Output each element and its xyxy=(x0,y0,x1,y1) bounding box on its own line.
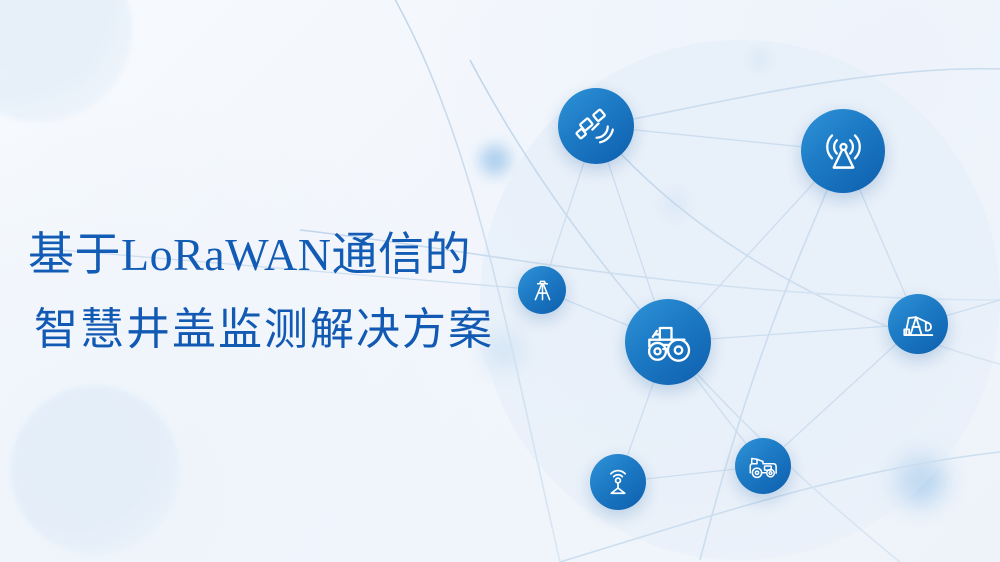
sensor-beacon-icon xyxy=(600,464,636,500)
radio-tower-icon xyxy=(816,124,871,179)
harvester-icon xyxy=(745,448,781,484)
node-tractor[interactable] xyxy=(625,299,711,385)
node-sensor[interactable] xyxy=(590,454,646,510)
page-title-line-1: 基于LoRaWAN通信的 xyxy=(28,228,588,282)
node-harvester[interactable] xyxy=(735,438,791,494)
node-pumpjack[interactable] xyxy=(888,294,948,354)
title-block: 基于LoRaWAN通信的 智慧井盖监测解决方案 xyxy=(28,228,588,357)
node-antenna[interactable] xyxy=(801,109,885,193)
title-slide: 基于LoRaWAN通信的 智慧井盖监测解决方案 xyxy=(0,0,1000,562)
node-satellite[interactable] xyxy=(558,88,634,164)
satellite-icon xyxy=(572,102,621,151)
page-title-line-2: 智慧井盖监测解决方案 xyxy=(34,304,588,357)
tractor-icon xyxy=(640,314,696,370)
oil-pumpjack-icon xyxy=(899,305,938,344)
